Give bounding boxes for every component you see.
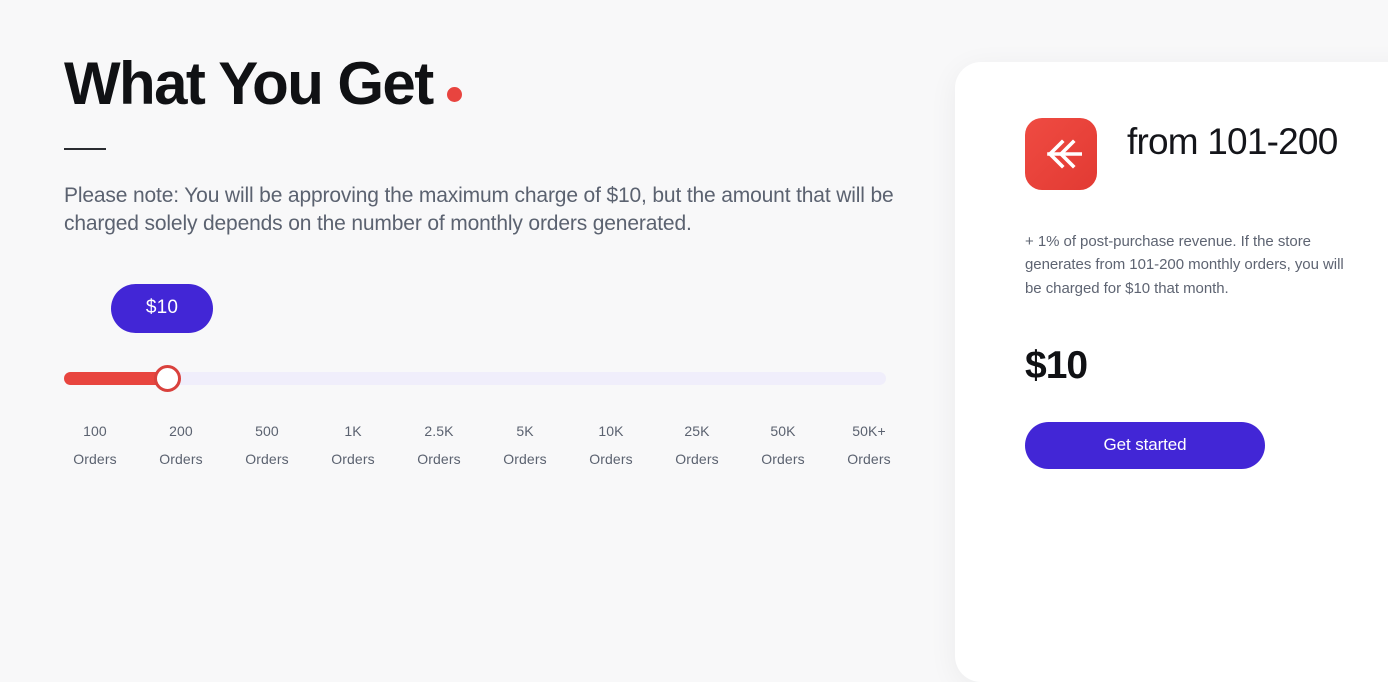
slider-tick[interactable]: 25K Orders [654,417,740,473]
slider-tick[interactable]: 50K Orders [740,417,826,473]
page-title: What You Get [64,0,924,116]
slider-tick[interactable]: 10K Orders [568,417,654,473]
plan-title: from 101-200 [1127,118,1337,164]
slider-tick[interactable]: 100 Orders [52,417,138,473]
title-accent-dot-icon [447,87,462,102]
tick-value: 5K [482,417,568,445]
plan-description: + 1% of post-purchase revenue. If the st… [1025,190,1345,300]
tick-value: 100 [52,417,138,445]
tick-value: 200 [138,417,224,445]
slider-price-badge[interactable]: $10 [111,284,213,333]
tick-unit: Orders [224,445,310,473]
plan-card-header: from 101-200 [1025,118,1388,190]
slider-tick[interactable]: 5K Orders [482,417,568,473]
tick-unit: Orders [740,445,826,473]
page-title-text: What You Get [64,52,433,116]
double-chevron-left-arrow-icon [1025,118,1097,190]
slider-tick[interactable]: 500 Orders [224,417,310,473]
tick-value: 1K [310,417,396,445]
plan-price: $10 [1025,300,1388,388]
slider-handle[interactable] [154,365,181,392]
tick-value: 500 [224,417,310,445]
tick-unit: Orders [482,445,568,473]
plan-card: from 101-200 + 1% of post-purchase reven… [955,62,1388,682]
tick-unit: Orders [654,445,740,473]
tick-value: 25K [654,417,740,445]
tick-unit: Orders [396,445,482,473]
slider-tick[interactable]: 2.5K Orders [396,417,482,473]
tick-unit: Orders [568,445,654,473]
tick-unit: Orders [52,445,138,473]
tick-value: 2.5K [396,417,482,445]
slider-tick-labels: 100 Orders 200 Orders 500 Orders 1K Orde… [52,417,912,473]
slider-tick[interactable]: 1K Orders [310,417,396,473]
pricing-left-column: What You Get Please note: You will be ap… [64,0,924,473]
tick-unit: Orders [826,445,912,473]
slider-tick[interactable]: 50K+ Orders [826,417,912,473]
get-started-button[interactable]: Get started [1025,422,1265,469]
tick-value: 50K [740,417,826,445]
slider-track[interactable] [64,372,886,385]
orders-slider[interactable] [64,365,886,391]
slider-fill [64,372,168,385]
pricing-note: Please note: You will be approving the m… [64,150,894,239]
slider-tick[interactable]: 200 Orders [138,417,224,473]
price-badge-row: $10 [64,239,924,333]
tick-value: 10K [568,417,654,445]
tick-unit: Orders [138,445,224,473]
tick-value: 50K+ [826,417,912,445]
tick-unit: Orders [310,445,396,473]
